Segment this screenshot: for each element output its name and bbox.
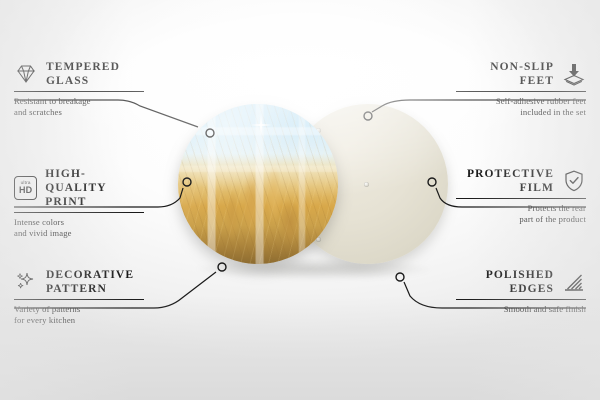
ultra-hd-badge-main-text: HD <box>19 186 32 195</box>
feature-title: NON-SLIP FEET <box>490 60 554 88</box>
shield-check-icon <box>562 169 586 193</box>
feature-title-line2: GLASS <box>46 74 120 88</box>
sparkles-icon <box>14 270 38 294</box>
feature-title-line1: NON-SLIP <box>490 60 554 74</box>
feature-desc-line2: and scratches <box>14 107 144 118</box>
feature-divider <box>14 299 144 300</box>
diagonal-stripes-icon <box>562 270 586 294</box>
feature-desc-line1: Variety of patterns <box>14 304 144 315</box>
feature-title-line2: PATTERN <box>46 282 134 296</box>
feature-desc-line2: included in the set <box>456 107 586 118</box>
feature-desc-line2: and vivid image <box>14 228 144 239</box>
feature-title-line2: FILM <box>467 181 554 195</box>
arrow-down-onto-pad-icon <box>562 62 586 86</box>
feature-divider <box>14 212 144 213</box>
feature-desc-line2: part of the product <box>456 214 586 225</box>
infographic-canvas: TEMPERED GLASS Resistant to breakage and… <box>0 0 600 400</box>
feature-polished-edges: POLISHED EDGES Smooth and safe finish <box>456 268 586 315</box>
feature-title-line1: POLISHED <box>486 268 554 282</box>
ultra-hd-badge-icon: ultra HD <box>14 176 37 200</box>
feature-divider <box>456 198 586 199</box>
feature-title-line1: PROTECTIVE <box>467 167 554 181</box>
feature-description: Self-adhesive rubber feet included in th… <box>456 96 586 118</box>
feature-tempered-glass: TEMPERED GLASS Resistant to breakage and… <box>14 60 144 118</box>
diamond-icon <box>14 62 38 86</box>
feature-desc-line1: Smooth and safe finish <box>456 304 586 315</box>
feature-desc-line1: Protects the rear <box>456 203 586 214</box>
feature-heading: PROTECTIVE FILM <box>456 167 586 195</box>
feature-title: PROTECTIVE FILM <box>467 167 554 195</box>
feature-desc-line1: Intense colors <box>14 217 144 228</box>
feature-description: Smooth and safe finish <box>456 304 586 315</box>
feature-description: Protects the rear part of the product <box>456 203 586 225</box>
feature-desc-line1: Self-adhesive rubber feet <box>456 96 586 107</box>
feature-title: TEMPERED GLASS <box>46 60 120 88</box>
feature-heading: TEMPERED GLASS <box>14 60 144 88</box>
feature-non-slip-feet: NON-SLIP FEET Self-adhesive rubber feet … <box>456 60 586 118</box>
feature-title-line2: PRINT <box>45 195 144 209</box>
feature-title-line1: DECORATIVE <box>46 268 134 282</box>
feature-divider <box>456 299 586 300</box>
feature-desc-line1: Resistant to breakage <box>14 96 144 107</box>
feature-high-quality-print: ultra HD HIGH-QUALITY PRINT Intense colo… <box>14 167 144 239</box>
feature-divider <box>456 91 586 92</box>
feature-divider <box>14 91 144 92</box>
feature-heading: ultra HD HIGH-QUALITY PRINT <box>14 167 144 209</box>
feature-description: Variety of patterns for every kitchen <box>14 304 144 326</box>
feature-decorative-pattern: DECORATIVE PATTERN Variety of patterns f… <box>14 268 144 326</box>
feature-title: POLISHED EDGES <box>486 268 554 296</box>
feature-desc-line2: for every kitchen <box>14 315 144 326</box>
feature-title: DECORATIVE PATTERN <box>46 268 134 296</box>
feature-description: Intense colors and vivid image <box>14 217 144 239</box>
feature-title-line2: EDGES <box>486 282 554 296</box>
feature-heading: NON-SLIP FEET <box>456 60 586 88</box>
feature-heading: POLISHED EDGES <box>456 268 586 296</box>
feature-protective-film: PROTECTIVE FILM Protects the rear part o… <box>456 167 586 225</box>
feature-title: HIGH-QUALITY PRINT <box>45 167 144 209</box>
feature-heading: DECORATIVE PATTERN <box>14 268 144 296</box>
feature-title-line1: HIGH-QUALITY <box>45 167 144 195</box>
feature-description: Resistant to breakage and scratches <box>14 96 144 118</box>
feature-title-line1: TEMPERED <box>46 60 120 74</box>
feature-title-line2: FEET <box>490 74 554 88</box>
